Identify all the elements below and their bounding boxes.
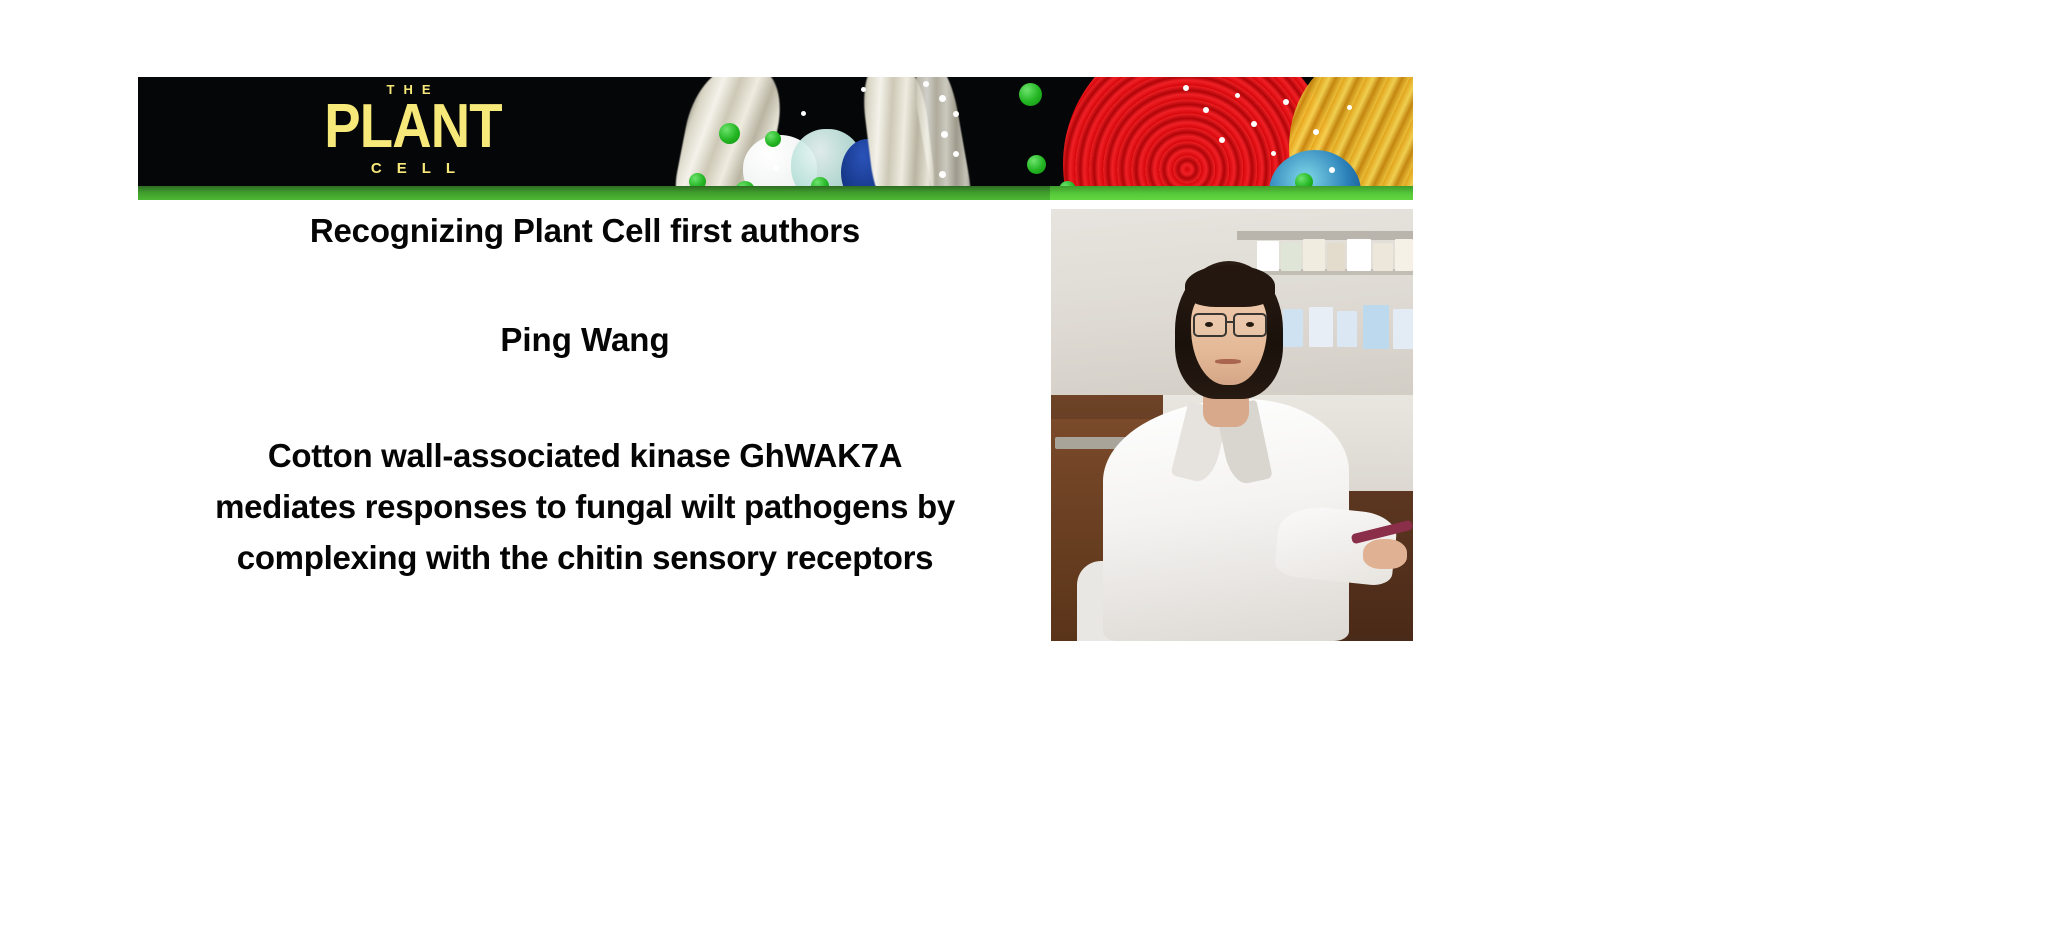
white-particle-icon (801, 111, 806, 116)
hair-fringe (1185, 265, 1275, 307)
white-particle-icon (1271, 151, 1276, 156)
journal-banner: THE PLANT CELL (138, 77, 1413, 200)
paper-title-line: mediates responses to fungal wilt pathog… (120, 481, 1050, 532)
white-particle-icon (773, 165, 779, 171)
eye (1246, 322, 1254, 327)
white-particle-icon (923, 81, 929, 87)
eyeglasses-icon (1193, 313, 1267, 333)
logo-plant-text: PLANT (268, 98, 558, 156)
eyeglass-lens (1233, 313, 1267, 337)
white-particle-icon (1313, 129, 1319, 135)
green-vesicle-icon (1019, 83, 1042, 106)
white-particle-icon (861, 87, 866, 92)
hand (1363, 539, 1407, 569)
white-particle-icon (1347, 105, 1352, 110)
lab-supply-box (1257, 241, 1279, 271)
content-text-block: Recognizing Plant Cell first authors Pin… (120, 212, 1050, 583)
lab-supply-box (1281, 243, 1301, 271)
lab-supply-box (1303, 239, 1325, 271)
banner-green-strip-right (1050, 186, 1413, 200)
green-vesicle-icon (765, 131, 781, 147)
journal-logo: THE PLANT CELL (248, 83, 578, 176)
lab-supply-box (1327, 243, 1345, 271)
white-particle-icon (1183, 85, 1189, 91)
lab-shelf (1237, 231, 1413, 240)
lab-supply-box (1395, 239, 1413, 271)
reagent-bottle (1337, 311, 1357, 347)
microscopy-artwork (623, 77, 1413, 200)
green-vesicle-icon (1027, 155, 1046, 174)
reagent-bottle (1283, 309, 1303, 347)
lab-supply-box (1347, 239, 1371, 271)
white-particle-icon (953, 111, 959, 117)
white-particle-icon (939, 171, 946, 178)
reagent-bottle (1393, 309, 1413, 349)
mouth (1215, 359, 1241, 364)
paper-title-line: complexing with the chitin sensory recep… (120, 532, 1050, 583)
reagent-bottle (1309, 307, 1333, 347)
white-particle-icon (1329, 167, 1335, 173)
eyeglass-lens (1193, 313, 1227, 337)
white-particle-icon (1251, 121, 1257, 127)
reagent-bottle (1363, 305, 1389, 349)
green-vesicle-icon (719, 123, 740, 144)
lab-supply-box (1373, 243, 1393, 271)
paper-title: Cotton wall-associated kinase GhWAK7A me… (120, 430, 1050, 583)
eye (1205, 322, 1213, 327)
white-particle-icon (941, 131, 948, 138)
page-title: Recognizing Plant Cell first authors (120, 212, 1050, 251)
white-particle-icon (939, 95, 946, 102)
author-name: Ping Wang (120, 321, 1050, 360)
white-particle-icon (1235, 93, 1240, 98)
white-particle-icon (1283, 99, 1289, 105)
white-particle-icon (1219, 137, 1225, 143)
paper-title-line: Cotton wall-associated kinase GhWAK7A (120, 430, 1050, 481)
author-portrait (1051, 209, 1413, 641)
white-particle-icon (1203, 107, 1209, 113)
white-particle-icon (953, 151, 959, 157)
logo-cell-text: CELL (248, 161, 578, 176)
